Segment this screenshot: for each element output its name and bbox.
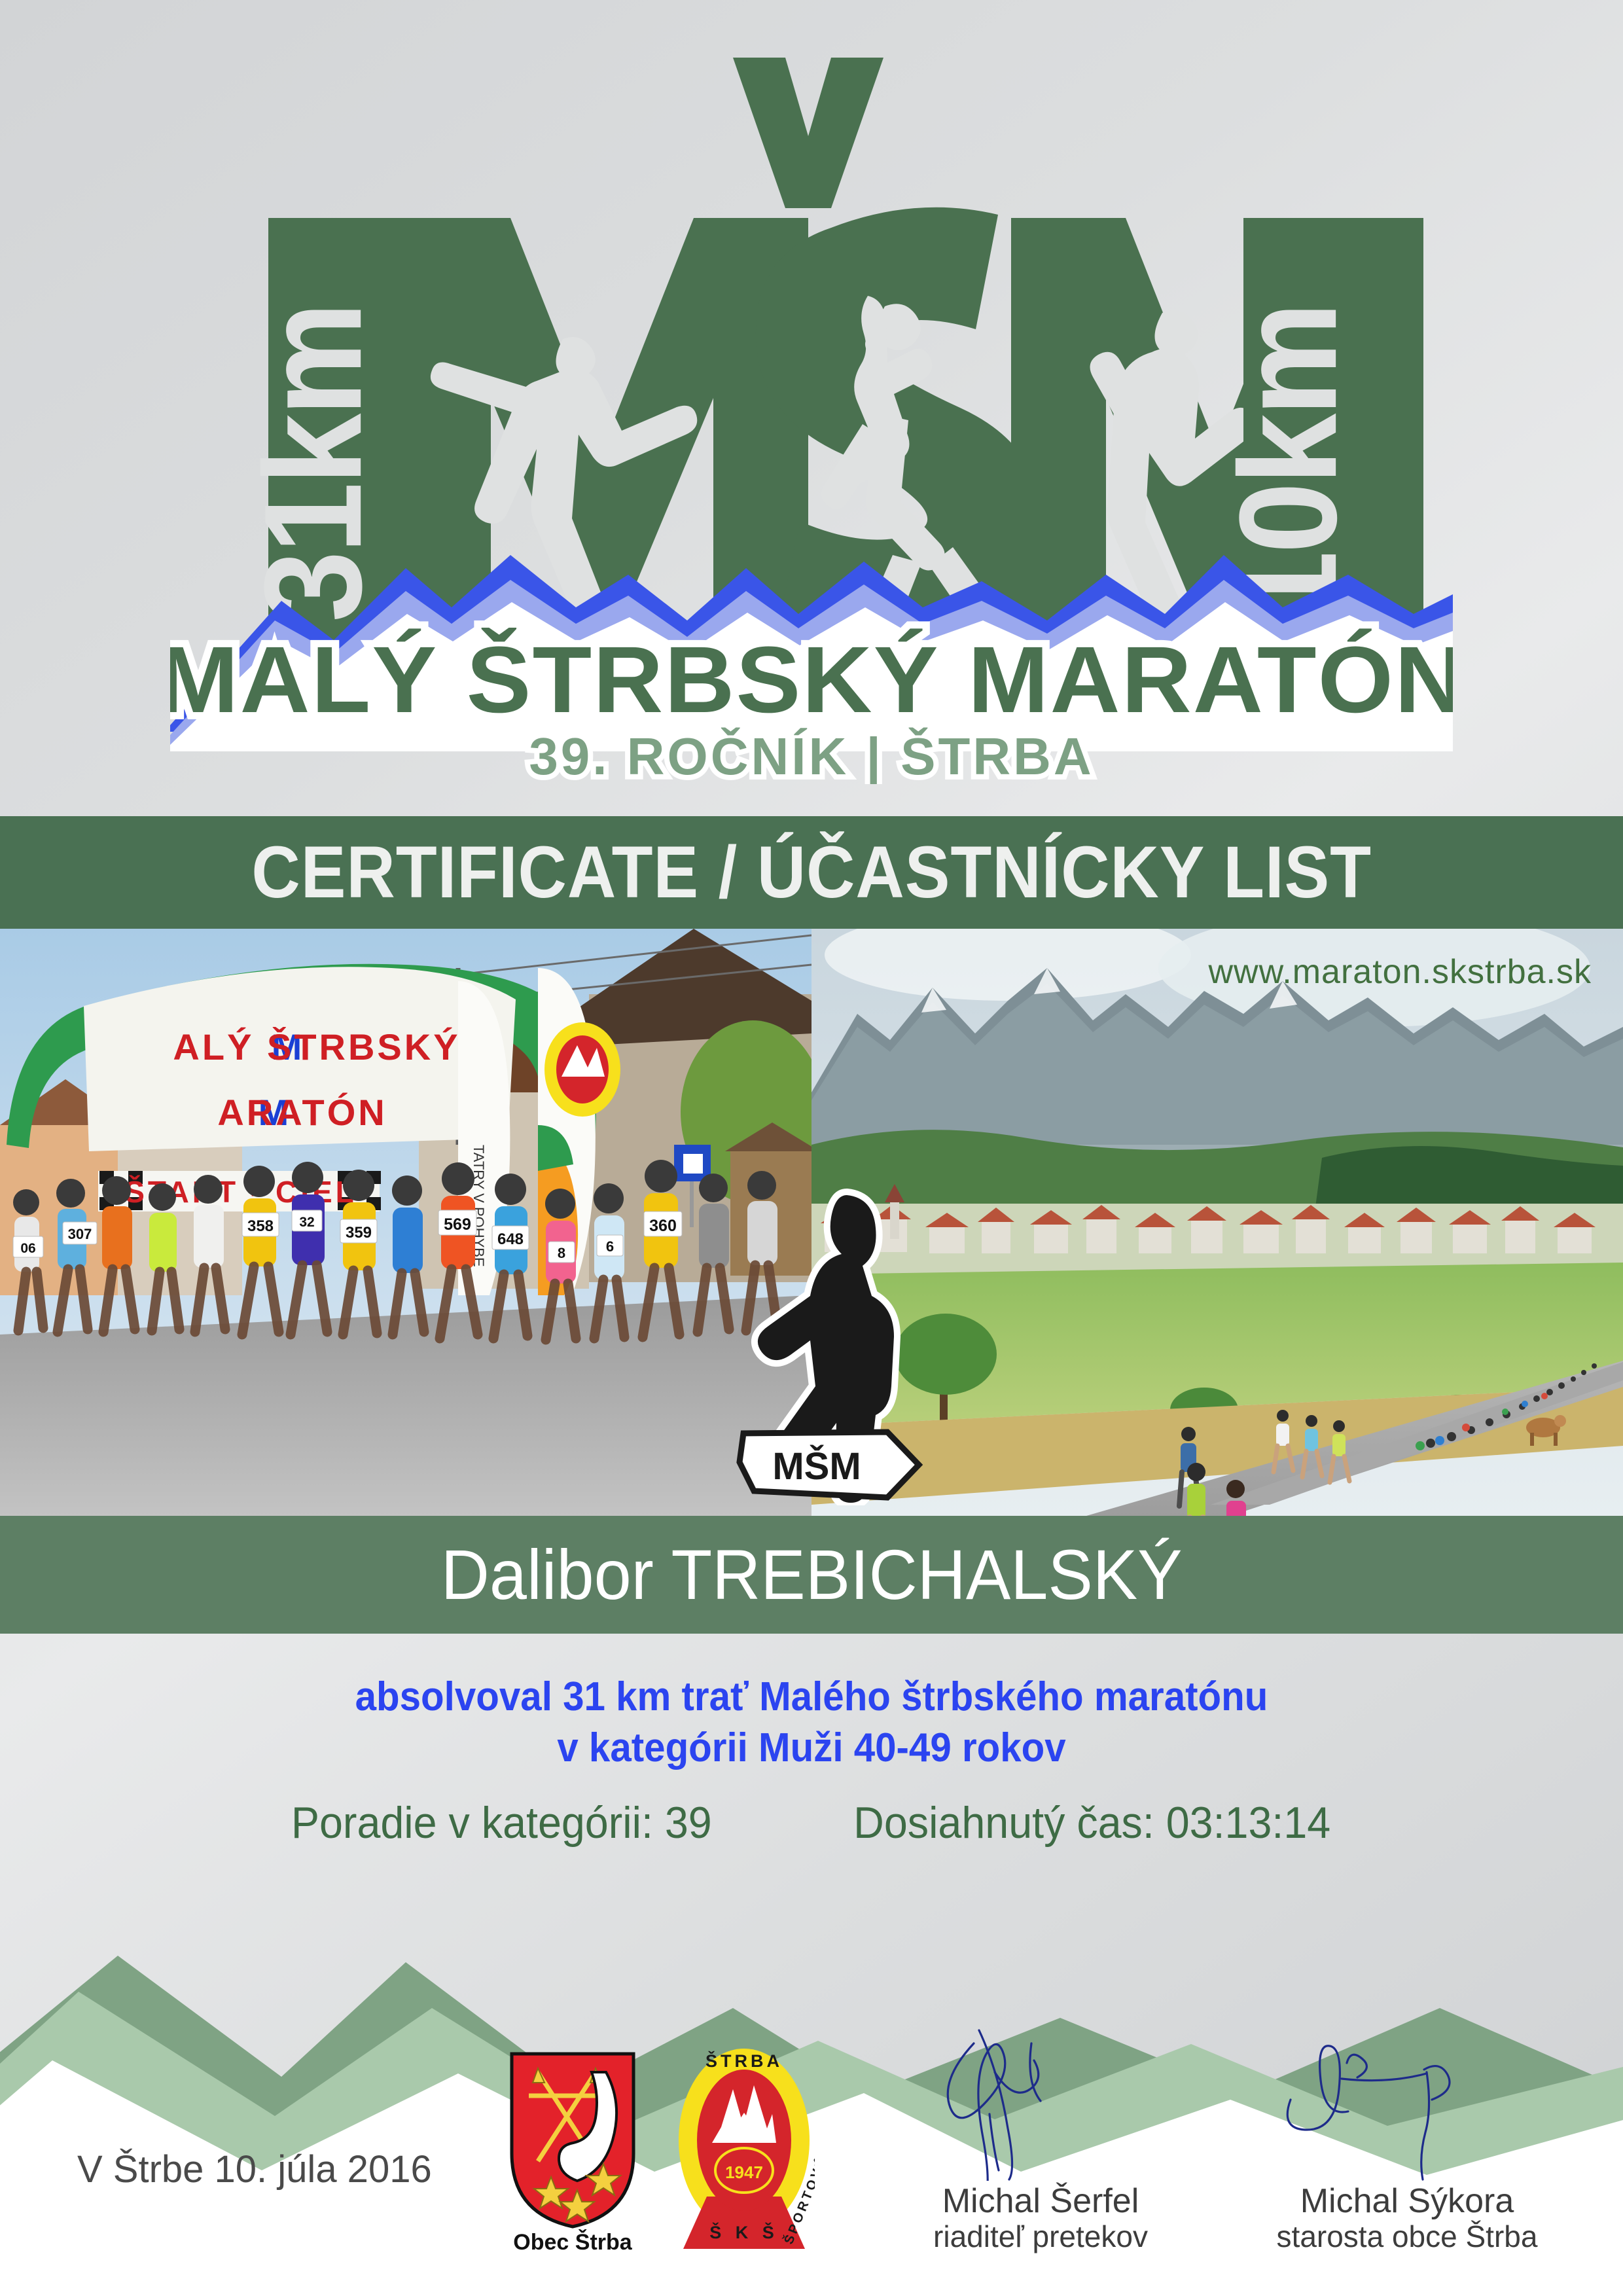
participant-description: absolvoval 31 km trať Malého štrbského m… <box>48 1672 1574 1774</box>
msm-logo-graphic: 31km <box>170 31 1453 784</box>
header-logo-zone: 31km <box>0 0 1623 795</box>
crest-sks-year: 1947 <box>725 2162 763 2182</box>
svg-text:360: 360 <box>649 1217 677 1235</box>
photo-start-line: M ALÝ ŠTRBSKÝ M ARATÓN ŠTART - CIEĽ <box>0 929 811 1516</box>
signature-block-mayor: Michal Sýkora starosta obce Štrba <box>1230 2182 1584 2254</box>
certificate-page: 31km <box>0 0 1623 2296</box>
caron-accent <box>733 58 883 208</box>
description-line-2: v kategórii Muži 40-49 rokov <box>48 1723 1574 1774</box>
svg-text:ALÝ ŠTRBSKÝ: ALÝ ŠTRBSKÝ <box>173 1026 460 1067</box>
signature-name-director: Michal Šerfel <box>864 2182 1217 2220</box>
photo-strip: M ALÝ ŠTRBSKÝ M ARATÓN ŠTART - CIEĽ <box>0 929 1623 1516</box>
footer: V Štrbe 10. júla 2016 <box>0 1988 1623 2296</box>
logo-title: MALÝ ŠTRBSKÝ MARATÓN <box>170 627 1453 732</box>
svg-text:307: 307 <box>68 1226 92 1242</box>
msm-logo: 31km <box>170 31 1453 784</box>
result-row: Poradie v kategórii: 39 Dosiahnutý čas: … <box>0 1797 1623 1848</box>
website-url: www.maraton.skstrba.sk <box>1209 952 1592 992</box>
crest-obec-graphic <box>504 2049 641 2251</box>
description-line-1: absolvoval 31 km trať Malého štrbského m… <box>355 1674 1268 1719</box>
crest-obec-caption: Obec Štrba <box>504 2230 641 2255</box>
crest-obec-strba: Obec Štrba <box>504 2049 641 2251</box>
svg-text:06: 06 <box>20 1241 35 1256</box>
svg-text:648: 648 <box>497 1230 524 1248</box>
svg-text:6: 6 <box>606 1238 614 1255</box>
signature-sykora-icon <box>1270 2024 1544 2181</box>
signature-role-director: riaditeľ pretekov <box>864 2220 1217 2254</box>
svg-text:358: 358 <box>247 1217 274 1235</box>
signature-block-director: Michal Šerfel riaditeľ pretekov <box>864 2182 1217 2254</box>
crest-sks-graphic: 1947 ŠTRBA Š K Š ŠPORTOVÝ KLUB <box>674 2042 815 2251</box>
finish-time: Dosiahnutý čas: 03:13:14 <box>853 1797 1330 1848</box>
svg-text:8: 8 <box>558 1245 565 1261</box>
crest-sks: 1947 ŠTRBA Š K Š ŠPORTOVÝ KLUB <box>674 2042 815 2251</box>
signature-role-mayor: starosta obce Štrba <box>1230 2220 1584 2254</box>
issue-date: V Štrbe 10. júla 2016 <box>77 2147 432 2191</box>
certificate-title: CERTIFICATE / ÚČASTNÍCKY LIST <box>251 836 1372 909</box>
participant-name: Dalibor TREBICHALSKÝ <box>441 1539 1183 1610</box>
signature-serfel-icon <box>903 2024 1178 2181</box>
participant-name-banner: Dalibor TREBICHALSKÝ <box>0 1516 1623 1634</box>
crest-sks-top-text: ŠTRBA <box>705 2051 783 2071</box>
svg-text:569: 569 <box>444 1215 471 1234</box>
svg-text:359: 359 <box>346 1224 372 1242</box>
photo-start-line-graphic: M ALÝ ŠTRBSKÝ M ARATÓN ŠTART - CIEĽ <box>0 929 811 1516</box>
svg-text:32: 32 <box>299 1215 314 1230</box>
logo-subtitle: 39. ROČNÍK | ŠTRBA <box>529 727 1094 784</box>
certificate-banner: CERTIFICATE / ÚČASTNÍCKY LIST <box>0 816 1623 929</box>
photo-mountain-road-graphic <box>811 929 1623 1516</box>
result-body: absolvoval 31 km trať Malého štrbského m… <box>0 1634 1623 1895</box>
crest-sks-bottom-text: Š K Š <box>709 2222 779 2242</box>
category-rank: Poradie v kategórii: 39 <box>291 1797 712 1848</box>
photo-mountain-road: www.maraton.skstrba.sk <box>811 929 1623 1516</box>
signature-name-mayor: Michal Sýkora <box>1230 2182 1584 2220</box>
svg-text:31km: 31km <box>236 304 391 622</box>
svg-text:ARATÓN: ARATÓN <box>217 1092 387 1133</box>
